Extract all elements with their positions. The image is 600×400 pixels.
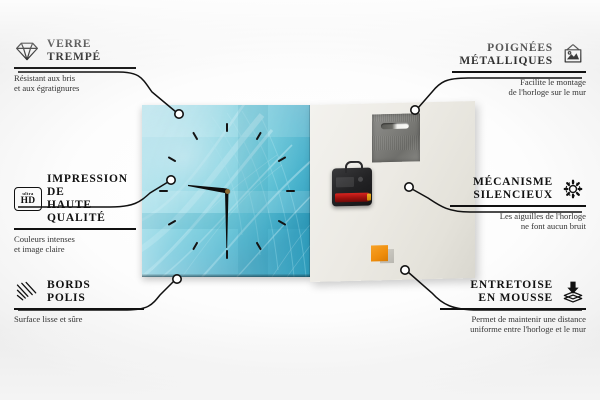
battery <box>335 193 369 203</box>
mechanism-label <box>336 177 354 187</box>
callout-title-line2: HAUTE QUALITÉ <box>47 199 106 224</box>
hour-mark <box>159 190 168 192</box>
callout-sub-line1: Surface lisse et sûre <box>14 314 83 324</box>
callout-title-line1: POIGNÉES <box>487 42 553 54</box>
clock-face <box>142 105 312 277</box>
callout-rule <box>452 71 586 73</box>
callout-rule <box>440 308 586 310</box>
diamond-icon <box>14 39 40 63</box>
callout-sub-line1: Les aiguilles de l'horloge <box>500 211 586 221</box>
callout-rule <box>14 228 136 230</box>
hour-mark <box>256 242 262 251</box>
hour-mark <box>168 156 177 162</box>
callout-sub-line1: Couleurs intenses <box>14 234 75 244</box>
callout-title-line2: TREMPÉ <box>47 51 101 63</box>
callout-rule <box>14 67 136 69</box>
hour-mark <box>278 220 287 226</box>
callout-title-line1: VERRE <box>47 38 91 50</box>
callout-sub-line2: ne font aucun bruit <box>521 221 586 231</box>
callout-sub-line2: et image claire <box>14 244 65 254</box>
ultra-hd-badge-icon: ultra HD <box>14 187 40 211</box>
callout-sub-line2: et aux égratignures <box>14 83 79 93</box>
mechanism-hanger-loop <box>345 161 363 173</box>
wall-clock-front-panel <box>142 105 312 277</box>
clock-mechanism <box>332 167 372 206</box>
hour-mark <box>278 156 287 162</box>
hour-mark <box>192 242 198 251</box>
mechanism-shaft <box>358 177 363 182</box>
gear-icon <box>560 177 586 201</box>
foam-spacer <box>371 245 388 261</box>
clock-hour-hand <box>187 183 227 194</box>
callout-title-line1: BORDS <box>47 279 91 291</box>
callout-sub-line1: Facilite le montage <box>520 77 586 87</box>
picture-frame-hanging-icon <box>560 43 586 67</box>
clock-center-pin <box>225 189 230 194</box>
callout-impression-haute-qualite[interactable]: ultra HD IMPRESSION DE HAUTE QUALITÉ Cou… <box>14 173 136 255</box>
hour-mark <box>226 250 228 259</box>
callout-title-line2: SILENCIEUX <box>473 189 553 201</box>
polished-edges-icon <box>14 280 40 304</box>
hour-mark <box>192 132 198 141</box>
callout-sub-line2: uniforme entre l'horloge et le mur <box>470 324 586 334</box>
metal-hanger-bracket <box>372 113 420 162</box>
callout-poignees-metalliques[interactable]: POIGNÉES MÉTALLIQUES Facilite le montage… <box>452 42 586 98</box>
callout-title-line2: EN MOUSSE <box>478 292 553 304</box>
callout-title-line1: IMPRESSION DE <box>47 173 128 198</box>
callout-sub-line1: Résistant aux bris <box>14 73 75 83</box>
callout-sub-line1: Permet de maintenir une distance <box>471 314 586 324</box>
badge-hd-text: HD <box>21 197 36 207</box>
bracket-keyhole-slot <box>381 123 409 130</box>
callout-sub-line2: de l'horloge sur le mur <box>509 87 586 97</box>
hour-mark <box>168 220 177 226</box>
callout-entretoise-en-mousse[interactable]: ENTRETOISE EN MOUSSE Permet de maintenir… <box>440 279 586 335</box>
hour-mark <box>256 132 262 141</box>
callout-title-line1: MÉCANISME <box>473 176 553 188</box>
callout-title-line2: POLIS <box>47 292 86 304</box>
callout-mecanisme-silencieux[interactable]: MÉCANISME SILENCIEUX Les aiguilles de l'… <box>450 176 586 232</box>
foam-spacer-arrow-icon <box>560 280 586 304</box>
callout-rule <box>450 205 586 207</box>
callout-title-line1: ENTRETOISE <box>470 279 553 291</box>
callout-title-line2: MÉTALLIQUES <box>459 55 553 67</box>
hour-mark <box>226 123 228 132</box>
infographic-canvas: VERRE TREMPÉ Résistant aux bris et aux é… <box>0 0 600 400</box>
product-image <box>142 105 475 282</box>
callout-verre-trempe[interactable]: VERRE TREMPÉ Résistant aux bris et aux é… <box>14 38 136 94</box>
clock-minute-hand <box>225 191 229 248</box>
hour-mark <box>286 190 295 192</box>
callout-bords-polis[interactable]: BORDS POLIS Surface lisse et sûre <box>14 279 144 324</box>
callout-rule <box>14 308 144 310</box>
